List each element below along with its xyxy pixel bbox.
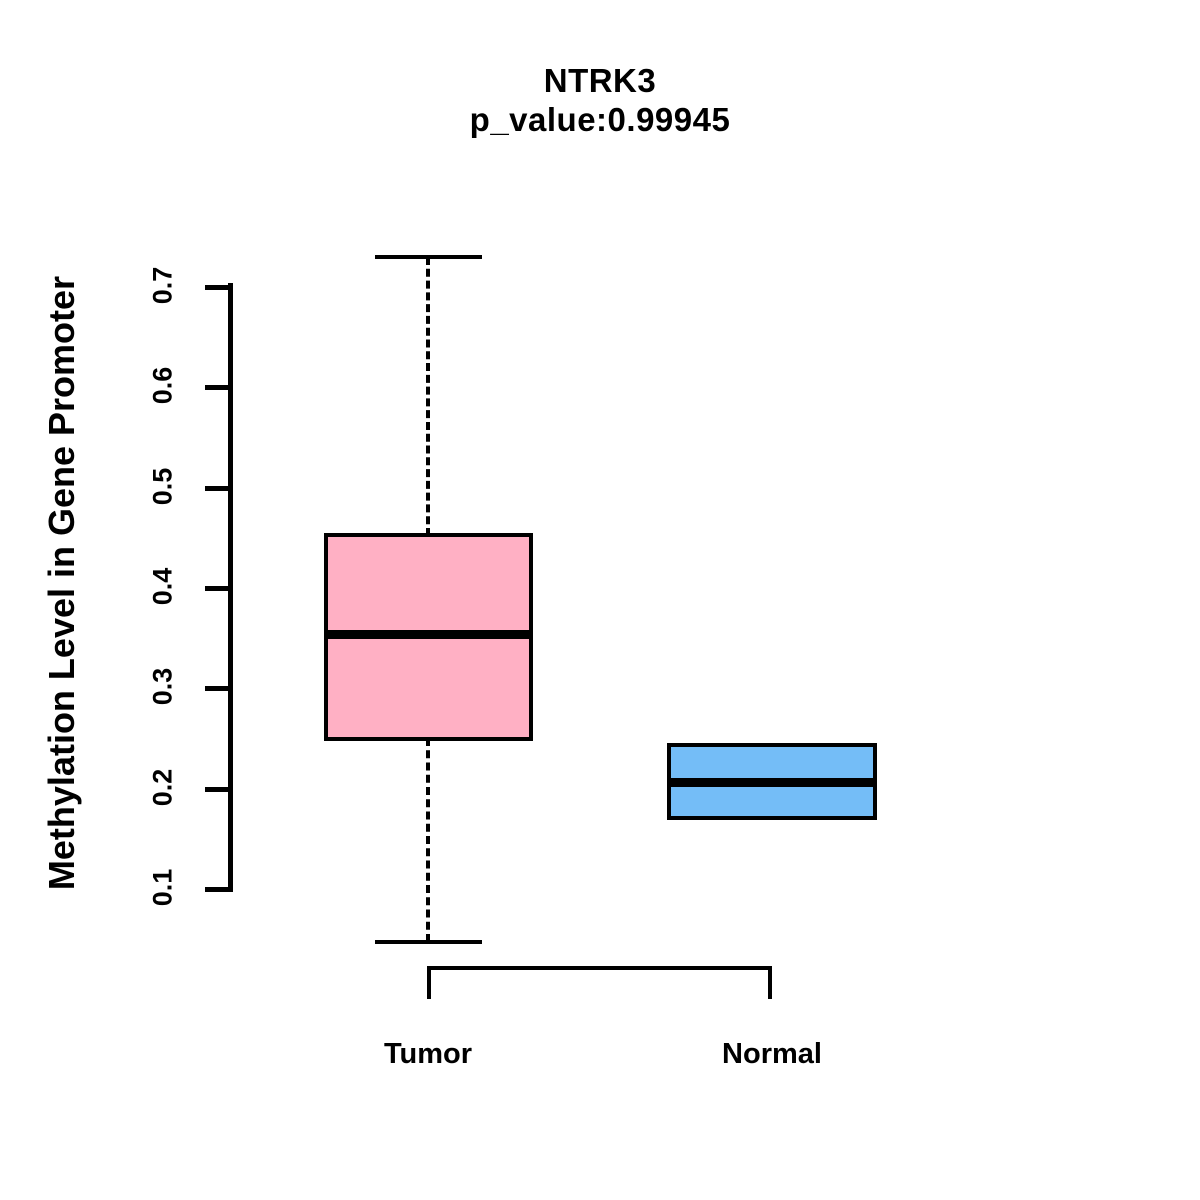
tumor-median-line bbox=[324, 630, 533, 639]
x-axis-tick-tumor bbox=[427, 966, 431, 999]
y-axis-tick-0.7 bbox=[205, 285, 233, 290]
y-axis-tick-label-0.5: 0.5 bbox=[148, 447, 179, 527]
y-axis-tick-label-0.7: 0.7 bbox=[148, 246, 179, 326]
x-axis-tick-normal bbox=[768, 966, 772, 999]
tumor-lower-whisker-cap bbox=[375, 940, 482, 944]
y-axis-tick-0.5 bbox=[205, 486, 233, 491]
figure-subtitle-pvalue: p_value:0.99945 bbox=[0, 101, 1200, 140]
y-axis-tick-0.3 bbox=[205, 686, 233, 691]
y-axis-tick-label-0.1: 0.1 bbox=[148, 848, 179, 928]
y-axis-tick-label-0.3: 0.3 bbox=[148, 647, 179, 727]
y-axis-tick-label-0.2: 0.2 bbox=[148, 748, 179, 828]
page-title: NTRK3 bbox=[0, 62, 1200, 101]
y-axis-tick-label-0.6: 0.6 bbox=[148, 346, 179, 426]
figure-title-block: NTRK3 p_value:0.99945 bbox=[0, 62, 1200, 140]
y-axis-tick-0.2 bbox=[205, 787, 233, 792]
y-axis-tick-0.1 bbox=[205, 887, 233, 892]
y-axis-tick-label-0.4: 0.4 bbox=[148, 547, 179, 627]
tumor-lower-whisker-line bbox=[426, 738, 430, 942]
tumor-upper-whisker-cap bbox=[375, 255, 482, 259]
x-axis-label-normal: Normal bbox=[622, 1038, 922, 1071]
y-axis-tick-0.6 bbox=[205, 385, 233, 390]
boxplot-figure: NTRK3 p_value:0.99945 Methylation Level … bbox=[0, 0, 1200, 1200]
normal-median-line bbox=[667, 778, 877, 787]
tumor-upper-whisker-line bbox=[426, 257, 430, 536]
y-axis-label: Methylation Level in Gene Promoter bbox=[41, 163, 83, 1003]
y-axis-tick-0.4 bbox=[205, 586, 233, 591]
x-axis-label-tumor: Tumor bbox=[278, 1038, 578, 1071]
x-axis-spine bbox=[427, 966, 772, 970]
